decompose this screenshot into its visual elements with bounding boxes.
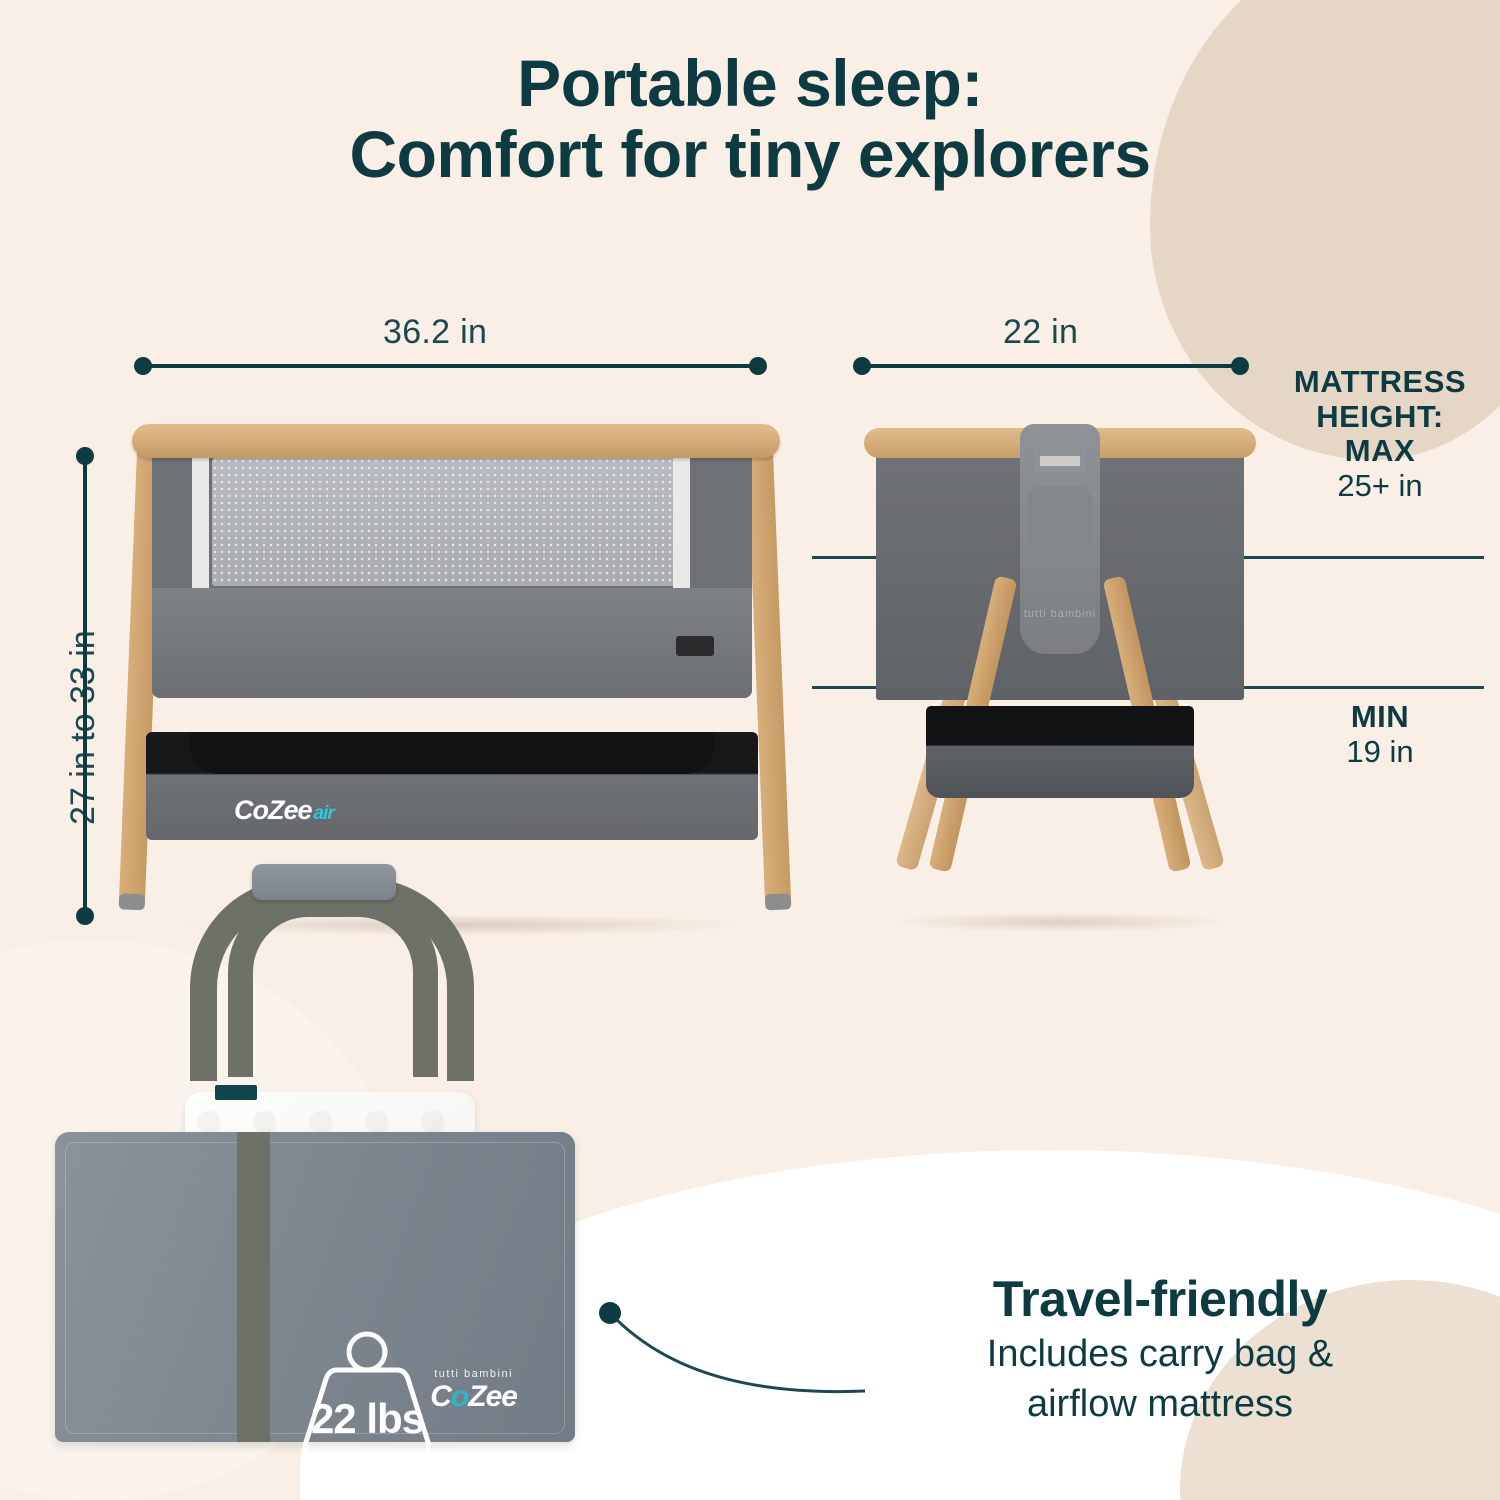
mesh-panel [212, 458, 682, 586]
title-line-1: Portable sleep: [517, 46, 983, 120]
weight-value: 22 lbs [285, 1395, 450, 1443]
leg-foot-right [765, 893, 792, 910]
product-front-view: CoZeeair [110, 424, 800, 924]
bassinet-body [152, 446, 752, 698]
mattress-brand-tag-icon [215, 1085, 257, 1100]
tutti-bambini-brand-text: tutti bambini [430, 1368, 517, 1380]
mesh-strap-right [673, 454, 690, 592]
storage-shelf-interior [190, 732, 714, 774]
side-view-shadow [890, 912, 1230, 932]
mechanism-brand-text: tutti bambini [1020, 608, 1100, 620]
dimension-label-side-width: 22 in [1003, 313, 1078, 352]
dimension-label-front-width: 36.2 in [383, 313, 487, 352]
carry-bag: 22 lbs tutti bambini CoZee [55, 1132, 575, 1442]
cozee-logo-bag-text: CoZee [430, 1380, 517, 1413]
mechanism-release-slot [1034, 450, 1086, 472]
cozee-logo-text: CoZee [234, 795, 312, 825]
mattress-height-max-label: MAX [1268, 434, 1492, 469]
page-title: Portable sleep: Comfort for tiny explore… [0, 48, 1500, 191]
mattress-height-max-value: 25+ in [1268, 469, 1492, 504]
leg-foot-left [119, 893, 146, 910]
wooden-top-rail [132, 424, 780, 458]
mechanism-hub [1028, 486, 1092, 550]
title-line-2: Comfort for tiny explorers [0, 119, 1500, 190]
storage-shelf: CoZeeair [146, 732, 758, 840]
cozee-logo-bag-c: C [430, 1380, 451, 1413]
dimension-dot-right [749, 357, 767, 375]
cozee-logo-air: air [314, 803, 334, 824]
mattress-height-min-value: 19 in [1268, 735, 1492, 770]
height-adjust-mechanism: tutti bambini [1020, 424, 1100, 654]
cozee-logo-bag-o: o [451, 1380, 468, 1413]
dimension-line-side-width [861, 364, 1239, 368]
mattress-height-max-callout: MATTRESS HEIGHT: MAX 25+ in [1268, 365, 1492, 504]
dimension-dot-side-left [853, 357, 871, 375]
travel-friendly-sub-1: Includes carry bag & [845, 1331, 1475, 1377]
weight-icon: 22 lbs [285, 1330, 450, 1465]
dimension-dot-bottom [76, 907, 94, 925]
mattress-height-label-1: MATTRESS [1268, 365, 1492, 400]
brand-tag-icon [676, 636, 714, 656]
cozee-logo-bag-rest: Zee [468, 1380, 517, 1413]
product-side-view: tutti bambini [850, 424, 1270, 924]
dimension-dot-side-right [1231, 357, 1249, 375]
travel-friendly-block: Travel-friendly Includes carry bag & air… [845, 1272, 1475, 1428]
mesh-strap-left [192, 454, 209, 592]
bag-handle-grip [252, 864, 396, 900]
infographic-canvas: Portable sleep: Comfort for tiny explore… [0, 0, 1500, 1500]
storage-tray-side [926, 706, 1194, 798]
fabric-lower-panel [152, 588, 752, 698]
bag-handle-inner [228, 892, 438, 1077]
dimension-dot-left [134, 357, 152, 375]
dimension-dot-top [76, 447, 94, 465]
mattress-height-label-2: HEIGHT: [1268, 400, 1492, 435]
mattress-height-min-label: MIN [1268, 700, 1492, 735]
travel-friendly-heading: Travel-friendly [845, 1272, 1475, 1327]
bag-strap-vertical [237, 1132, 270, 1442]
cozee-logo-front: CoZeeair [234, 795, 334, 826]
dimension-line-front-height [83, 455, 87, 915]
mattress-height-min-callout: MIN 19 in [1268, 700, 1492, 769]
cozee-logo-bag: tutti bambini CoZee [430, 1368, 517, 1414]
travel-friendly-sub-2: airflow mattress [845, 1381, 1475, 1427]
dimension-line-front-width [142, 364, 758, 368]
